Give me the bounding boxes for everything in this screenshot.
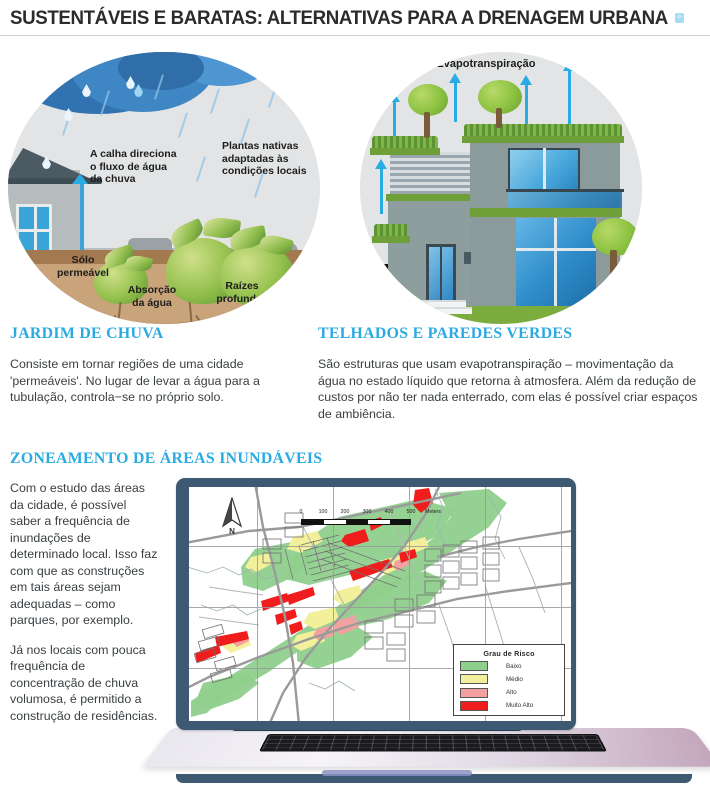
scale-tick: 0 bbox=[300, 509, 303, 515]
north-arrow-icon bbox=[219, 497, 245, 529]
legend-item-baixo: Baixo bbox=[460, 661, 564, 671]
plant-root bbox=[252, 311, 263, 324]
evapotranspiration-arrow-head bbox=[520, 75, 532, 85]
rain-streak bbox=[268, 82, 278, 107]
tree-trunk bbox=[496, 108, 502, 128]
scale-tick: 100 bbox=[319, 509, 328, 515]
section-body-jardim-de-chuva: Consiste em tornar regiões de uma cidade… bbox=[10, 356, 310, 406]
evapotranspiration-arrow-head bbox=[375, 159, 387, 169]
evapotranspiration-arrow-head bbox=[388, 92, 400, 102]
rain-streak bbox=[178, 112, 188, 137]
laptop-trackpad-shadow bbox=[322, 770, 472, 776]
rain-streak bbox=[210, 88, 220, 113]
section-body-telhados-e-paredes-verdes: São estruturas que usam evapotranspiraçã… bbox=[318, 356, 702, 422]
evapotranspiration-arrow-head bbox=[449, 73, 461, 83]
green-roof-edge-top bbox=[462, 136, 624, 143]
evapotranspiration-arrow bbox=[568, 70, 571, 124]
tree-trunk bbox=[424, 112, 430, 138]
compass-rose-icon: N bbox=[219, 497, 245, 539]
legend-item-muito-alto: Muito Alto bbox=[460, 701, 564, 711]
section-heading-telhados-e-paredes-verdes: TELHADOS E PAREDES VERDES bbox=[318, 325, 572, 343]
label-native-plants: Plantas nativas adaptadas às condições l… bbox=[222, 140, 320, 178]
entrance-step bbox=[412, 307, 472, 314]
laptop-device: N 0 100 200 300 400 500 Meters bbox=[172, 478, 710, 800]
scale-tick: 500 bbox=[407, 509, 416, 515]
paragraph: Já nos locais com pouca frequência de co… bbox=[10, 642, 160, 725]
flood-risk-map[interactable]: N 0 100 200 300 400 500 Meters bbox=[189, 487, 571, 721]
window-mullion bbox=[543, 148, 546, 192]
legend-item-alto: Alto bbox=[460, 688, 564, 698]
roof-gutter bbox=[8, 178, 102, 184]
map-scale-bar: 0 100 200 300 400 500 Meters bbox=[301, 509, 431, 525]
map-legend: Grau de Risco Baixo Médio Alto bbox=[453, 644, 565, 716]
label-deep-roots: Raízes profundas bbox=[204, 280, 280, 305]
balcony-glass-rail bbox=[508, 192, 622, 208]
label-water-absorption: Absorção da água bbox=[112, 284, 192, 309]
compass-north-label: N bbox=[219, 527, 245, 536]
evapotranspiration-arrow-head bbox=[563, 61, 575, 71]
green-wall-planter bbox=[374, 224, 408, 236]
scale-tick: 300 bbox=[363, 509, 372, 515]
legend-title: Grau de Risco bbox=[454, 649, 564, 658]
laptop-keyboard[interactable] bbox=[259, 734, 607, 752]
evapotranspiration-arrow bbox=[393, 100, 396, 136]
scale-tick: 400 bbox=[385, 509, 394, 515]
legend-swatch-high-icon bbox=[460, 688, 488, 698]
legend-swatch-medium-icon bbox=[460, 674, 488, 684]
balcony-slab-green bbox=[470, 208, 622, 217]
water-drop-icon: ✧ bbox=[675, 13, 684, 23]
infographic-page: SUSTENTÁVEIS E BARATAS: ALTERNATIVAS PAR… bbox=[0, 0, 710, 800]
intercom-panel bbox=[464, 252, 471, 264]
section-heading-zoneamento: ZONEAMENTO DE ÁREAS INUNDÁVEIS bbox=[10, 450, 322, 468]
scale-tick-labels: 0 100 200 300 400 500 Meters bbox=[301, 509, 431, 518]
page-header: SUSTENTÁVEIS E BARATAS: ALTERNATIVAS PAR… bbox=[0, 0, 710, 36]
page-title: SUSTENTÁVEIS E BARATAS: ALTERNATIVAS PAR… bbox=[10, 7, 668, 30]
laptop-screen[interactable]: N 0 100 200 300 400 500 Meters bbox=[189, 487, 571, 721]
balcony-rail-top bbox=[506, 189, 624, 192]
window-transom bbox=[19, 229, 49, 232]
evapotranspiration-arrow bbox=[525, 84, 528, 124]
tree-trunk bbox=[610, 250, 617, 286]
legend-label: Médio bbox=[506, 676, 523, 683]
label-permeable-soil: Sólo permeável bbox=[48, 254, 118, 279]
label-gutter: A calha direciona o fluxo de água da chu… bbox=[90, 148, 200, 186]
scale-unit: Meters bbox=[425, 509, 441, 515]
green-roof-illustration: Evapotranspiração bbox=[360, 52, 642, 324]
section-heading-jardim-de-chuva: JARDIM DE CHUVA bbox=[10, 325, 164, 343]
keyboard-keys[interactable] bbox=[262, 735, 605, 750]
legend-swatch-low-icon bbox=[460, 661, 488, 671]
legend-swatch-very-high-icon bbox=[460, 701, 488, 711]
planter-edge bbox=[372, 236, 410, 243]
legend-label: Baixo bbox=[506, 663, 521, 670]
evapotranspiration-arrow bbox=[380, 168, 383, 214]
laptop-lid: N 0 100 200 300 400 500 Meters bbox=[176, 478, 576, 730]
label-evapotranspiration: Evapotranspiração bbox=[418, 58, 554, 71]
section-body-zoneamento: Com o estudo das áreas da cidade, é poss… bbox=[10, 480, 160, 724]
green-roof-edge-left bbox=[370, 148, 440, 155]
entrance-step bbox=[418, 300, 466, 307]
rain-garden-illustration: A calha direciona o fluxo de água da chu… bbox=[8, 52, 320, 324]
paragraph: Com o estudo das áreas da cidade, é poss… bbox=[10, 480, 160, 629]
legend-item-medio: Médio bbox=[460, 674, 564, 684]
door-mullion bbox=[440, 244, 442, 304]
window-mullion bbox=[554, 218, 557, 306]
scale-tick: 200 bbox=[341, 509, 350, 515]
roof-grass-top bbox=[464, 124, 622, 136]
window-transom bbox=[516, 248, 596, 251]
house-window bbox=[16, 204, 52, 254]
legend-label: Alto bbox=[506, 689, 517, 696]
paragraph: Consiste em tornar regiões de uma cidade… bbox=[10, 356, 310, 406]
paragraph: São estruturas que usam evapotranspiraçã… bbox=[318, 356, 702, 422]
house-roof bbox=[8, 148, 98, 182]
scale-bar-graphic bbox=[301, 519, 411, 525]
evapotranspiration-arrow bbox=[454, 82, 457, 122]
legend-label: Muito Alto bbox=[506, 702, 533, 709]
